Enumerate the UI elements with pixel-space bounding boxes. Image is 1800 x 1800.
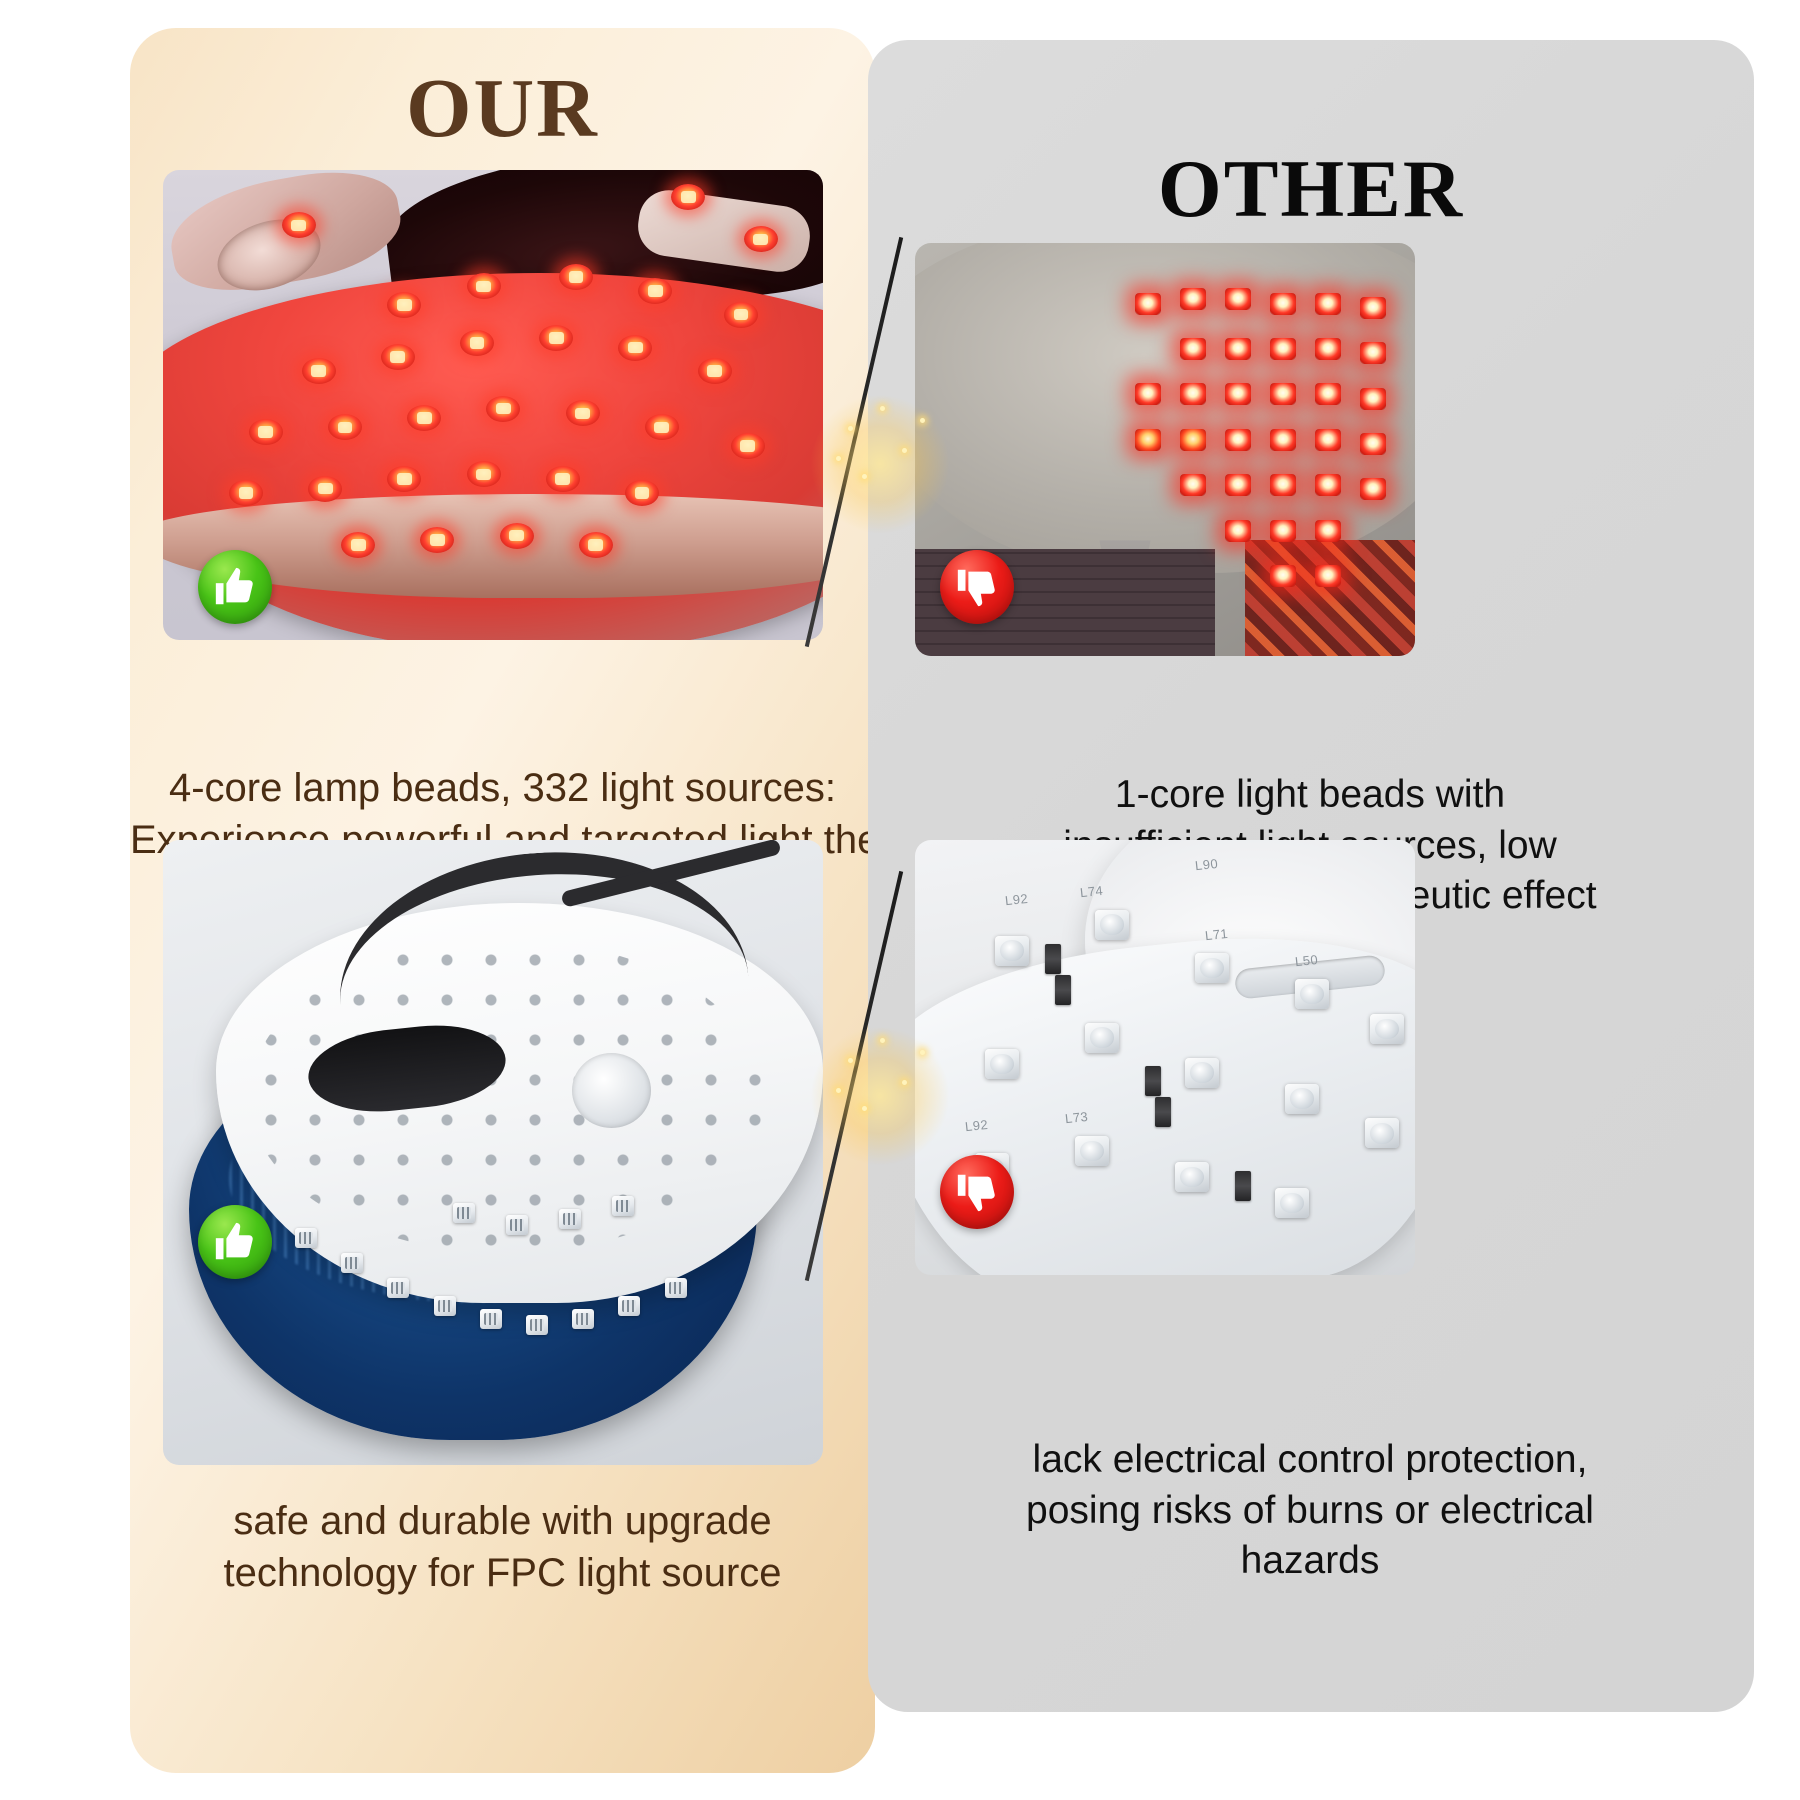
caption-line: 4-core lamp beads, 332 light sources: bbox=[130, 762, 875, 814]
versus-letters: V S bbox=[752, 938, 972, 1178]
caption-line: 1-core light beads with bbox=[880, 770, 1740, 821]
caption-line: safe and durable with upgrade bbox=[130, 1495, 875, 1547]
thumbs-up-badge-2 bbox=[198, 1205, 272, 1279]
mask-control-knob bbox=[572, 1053, 651, 1128]
versus-letters: V S bbox=[752, 306, 972, 546]
patterned-fabric bbox=[1245, 540, 1415, 656]
versus-letter-s: S bbox=[830, 330, 925, 558]
our-fpc-layer-photo bbox=[163, 840, 823, 1465]
thumbs-up-icon bbox=[212, 1219, 258, 1265]
comparison-infographic: OUR bbox=[0, 0, 1800, 1800]
thumbs-up-icon bbox=[212, 564, 258, 610]
other-column-title: OTHER bbox=[868, 142, 1754, 236]
other-caption-2: lack electrical control protection, posi… bbox=[880, 1435, 1740, 1587]
thumbs-down-badge-1 bbox=[940, 550, 1014, 624]
caption-line: technology for FPC light source bbox=[130, 1547, 875, 1599]
versus-graphic-2: V S bbox=[752, 938, 972, 1178]
our-caption-2: safe and durable with upgrade technology… bbox=[130, 1495, 875, 1599]
caption-line: posing risks of burns or electrical bbox=[880, 1486, 1740, 1537]
caption-line: lack electrical control protection, bbox=[880, 1435, 1740, 1486]
versus-graphic-1: V S bbox=[752, 306, 972, 546]
thumbs-up-badge-1 bbox=[198, 550, 272, 624]
our-column-title: OUR bbox=[130, 60, 875, 157]
thumbs-down-icon bbox=[954, 564, 1000, 610]
versus-letter-s: S bbox=[830, 962, 925, 1190]
caption-line: hazards bbox=[880, 1536, 1740, 1587]
